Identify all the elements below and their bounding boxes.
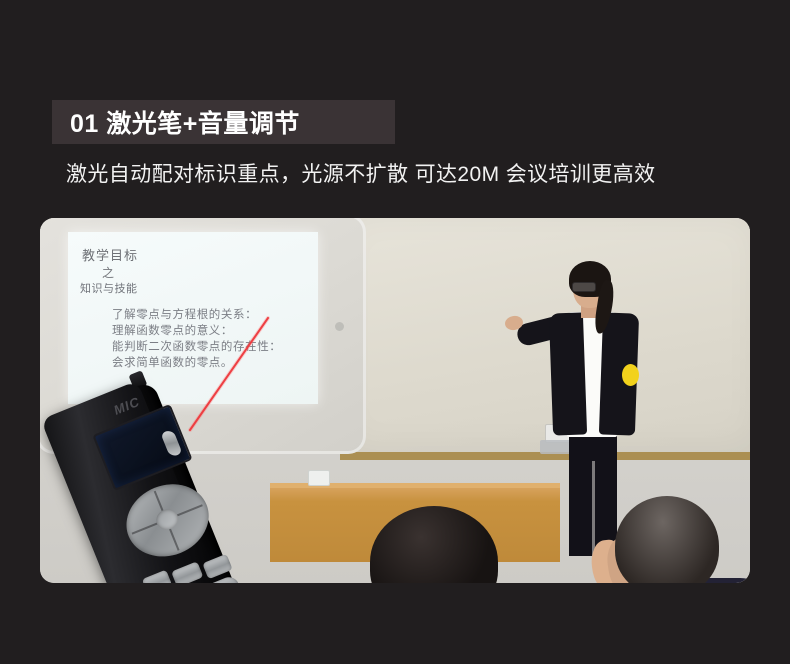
presenter-leg-gap <box>592 461 595 556</box>
dpad-center-button[interactable] <box>153 506 181 533</box>
slide-title: 教学目标 <box>82 245 138 264</box>
device-button-2[interactable] <box>171 561 203 583</box>
presenter-armband <box>622 364 639 386</box>
slide-bullet-1: 了解零点与方程根的关系： <box>112 306 281 322</box>
bottom-fade <box>0 638 790 664</box>
slide-bullet-list: 了解零点与方程根的关系： 理解函数零点的意义： 能判断二次函数零点的存在性： 会… <box>112 306 281 370</box>
slide-subtitle-zhi: 之 <box>102 264 114 281</box>
projected-slide: 教学目标 之 知识与技能 了解零点与方程根的关系： 理解函数零点的意义： 能判断… <box>68 232 318 404</box>
slide-bullet-3: 能判断二次函数零点的存在性： <box>112 338 281 354</box>
page-title: 01 激光笔+音量调节 <box>52 104 300 140</box>
presenter-jacket-left <box>549 312 587 435</box>
slide-subtitle-skills: 知识与技能 <box>80 280 138 296</box>
product-scene-photo: 教学目标 之 知识与技能 了解零点与方程根的关系： 理解函数零点的意义： 能判断… <box>40 218 750 583</box>
slide-bullet-4: 会求简单函数的零点。 <box>112 354 281 370</box>
section-title-banner: 01 激光笔+音量调节 <box>52 100 395 144</box>
slide-bullet-2: 理解函数零点的意义： <box>112 322 281 338</box>
desk-cup <box>308 470 330 486</box>
section-subtitle: 激光自动配对标识重点，光源不扩散 可达20M 会议培训更高效 <box>66 158 656 188</box>
device-button-1[interactable] <box>142 570 172 583</box>
device-dpad[interactable] <box>116 472 220 568</box>
device-body: MIC <box>41 381 234 583</box>
presenter-glasses <box>572 282 596 292</box>
